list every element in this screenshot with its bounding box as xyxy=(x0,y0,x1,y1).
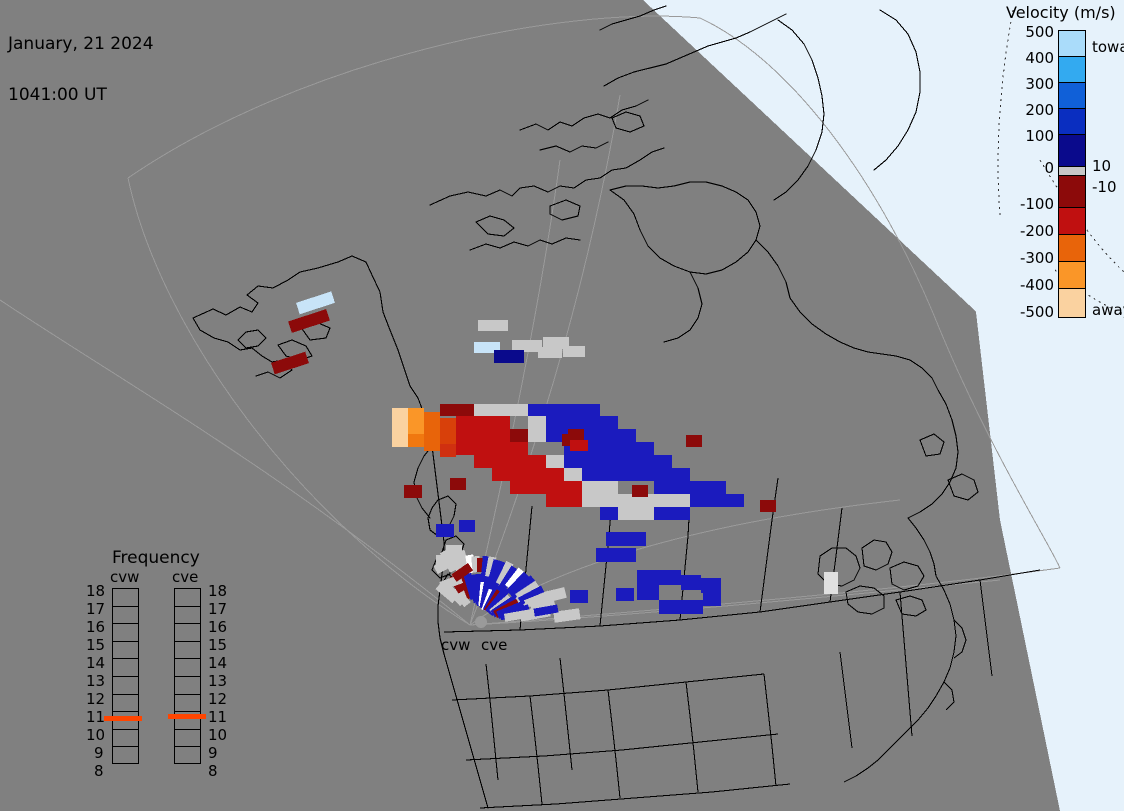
frequency-tick-right-17: 17 xyxy=(208,602,227,617)
frequency-tick-right-10: 10 xyxy=(208,728,227,743)
velocity-label-pos-threshold: 10 xyxy=(1092,159,1111,174)
velocity-tick-500: 500 xyxy=(1025,25,1054,40)
velocity-tick-100: 100 xyxy=(1025,129,1054,144)
frequency-tick-left-8: 8 xyxy=(94,764,104,779)
frequency-tick-left-18: 18 xyxy=(86,584,105,599)
velocity-label-neg-threshold: -10 xyxy=(1092,180,1117,195)
radar-site-marker xyxy=(475,616,487,628)
frequency-tick-right-13: 13 xyxy=(208,674,227,689)
velocity-tick-neg200: -200 xyxy=(1020,224,1054,239)
velocity-segment-neutral xyxy=(1059,167,1085,176)
frequency-tick-right-11: 11 xyxy=(208,710,227,725)
velocity-segment-neg200-neg100 xyxy=(1059,208,1085,235)
velocity-segment-neg400-neg300 xyxy=(1059,262,1085,289)
velocity-segment-neg100-neg10 xyxy=(1059,176,1085,208)
frequency-tick-left-10: 10 xyxy=(86,728,105,743)
velocity-segment-neg500-neg400 xyxy=(1059,289,1085,317)
frequency-tick-left-17: 17 xyxy=(86,602,105,617)
radar-site-label-cvw: cvw xyxy=(441,636,470,654)
velocity-segment-10-100 xyxy=(1059,135,1085,167)
frequency-legend: Frequency cvw cve xyxy=(84,548,264,778)
timestamp-date: January, 21 2024 xyxy=(8,36,154,53)
frequency-tick-right-9: 9 xyxy=(208,746,218,761)
velocity-segment-300-400 xyxy=(1059,57,1085,83)
frequency-tick-left-11: 11 xyxy=(86,710,105,725)
frequency-bar-cvw xyxy=(112,588,139,764)
timestamp-block: January, 21 2024 1041:00 UT xyxy=(8,2,154,138)
velocity-tick-200: 200 xyxy=(1025,103,1054,118)
frequency-legend-title: Frequency xyxy=(112,548,200,568)
velocity-tick-neg100: -100 xyxy=(1020,197,1054,212)
frequency-tick-right-12: 12 xyxy=(208,692,227,707)
frequency-column-label-cvw: cvw xyxy=(110,568,139,586)
frequency-tick-left-14: 14 xyxy=(86,656,105,671)
frequency-column-label-cve: cve xyxy=(172,568,198,586)
frequency-tick-left-9: 9 xyxy=(94,746,104,761)
frequency-tick-left-16: 16 xyxy=(86,620,105,635)
frequency-tick-left-12: 12 xyxy=(86,692,105,707)
velocity-tick-neg500: -500 xyxy=(1020,305,1054,320)
velocity-segment-neg300-neg200 xyxy=(1059,235,1085,262)
frequency-tick-left-13: 13 xyxy=(86,674,105,689)
superdarn-velocity-map: January, 21 2024 1041:00 UT cvw cve Velo… xyxy=(0,0,1124,811)
frequency-tick-right-18: 18 xyxy=(208,584,227,599)
radar-site-label-cve: cve xyxy=(481,636,507,654)
frequency-tick-left-15: 15 xyxy=(86,638,105,653)
velocity-label-away: away xyxy=(1092,303,1124,318)
frequency-marker-cvw xyxy=(104,716,142,721)
frequency-marker-cve xyxy=(168,714,206,719)
frequency-bar-cve xyxy=(174,588,201,764)
frequency-tick-right-14: 14 xyxy=(208,656,227,671)
velocity-legend: Velocity (m/s) 500 400 300 200 100 0 -10… xyxy=(1000,0,1124,340)
velocity-colorbar xyxy=(1058,30,1086,318)
frequency-tick-right-16: 16 xyxy=(208,620,227,635)
velocity-legend-title: Velocity (m/s) xyxy=(1006,3,1116,22)
velocity-segment-200-300 xyxy=(1059,83,1085,109)
frequency-tick-right-15: 15 xyxy=(208,638,227,653)
timestamp-time: 1041:00 UT xyxy=(8,87,154,104)
velocity-tick-neg300: -300 xyxy=(1020,251,1054,266)
frequency-tick-right-8: 8 xyxy=(208,764,218,779)
velocity-segment-400-500 xyxy=(1059,31,1085,57)
velocity-tick-neg400: -400 xyxy=(1020,278,1054,293)
velocity-tick-400: 400 xyxy=(1025,51,1054,66)
velocity-tick-0: 0 xyxy=(1044,161,1054,176)
velocity-segment-100-200 xyxy=(1059,109,1085,135)
velocity-tick-300: 300 xyxy=(1025,77,1054,92)
velocity-label-toward: toward xyxy=(1092,40,1124,55)
